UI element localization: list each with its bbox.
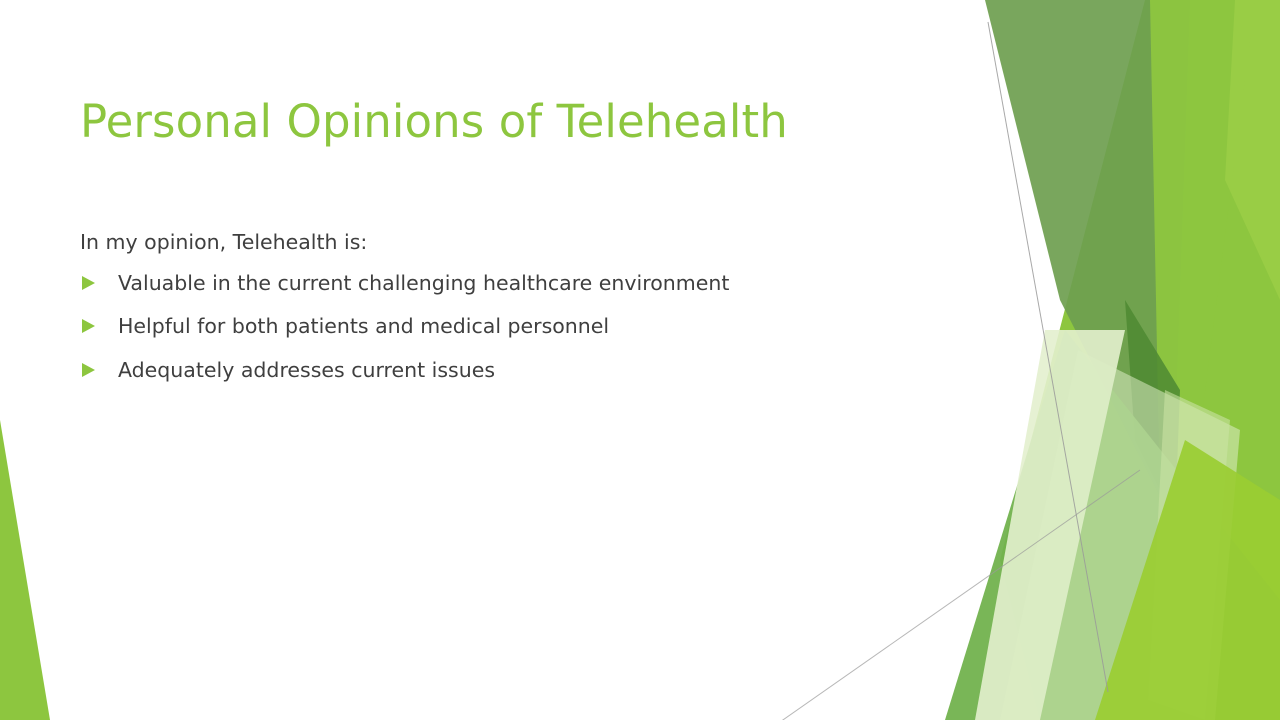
triangle-right-bullet-icon [82, 319, 95, 333]
slide-content: Personal Opinions of Telehealth In my op… [0, 0, 1280, 720]
list-item: Helpful for both patients and medical pe… [80, 314, 880, 339]
list-item: Valuable in the current challenging heal… [80, 271, 880, 296]
lead-paragraph: In my opinion, Telehealth is: [80, 230, 880, 255]
body-text-block: In my opinion, Telehealth is: Valuable i… [80, 230, 880, 382]
page-title: Personal Opinions of Telehealth [80, 98, 900, 147]
list-item: Adequately addresses current issues [80, 358, 880, 383]
slide: Personal Opinions of Telehealth In my op… [0, 0, 1280, 720]
list-item-label: Helpful for both patients and medical pe… [118, 314, 609, 338]
bullet-list: Valuable in the current challenging heal… [80, 271, 880, 383]
list-item-label: Adequately addresses current issues [118, 358, 495, 382]
triangle-right-bullet-icon [82, 363, 95, 377]
list-item-label: Valuable in the current challenging heal… [118, 271, 729, 295]
triangle-right-bullet-icon [82, 276, 95, 290]
